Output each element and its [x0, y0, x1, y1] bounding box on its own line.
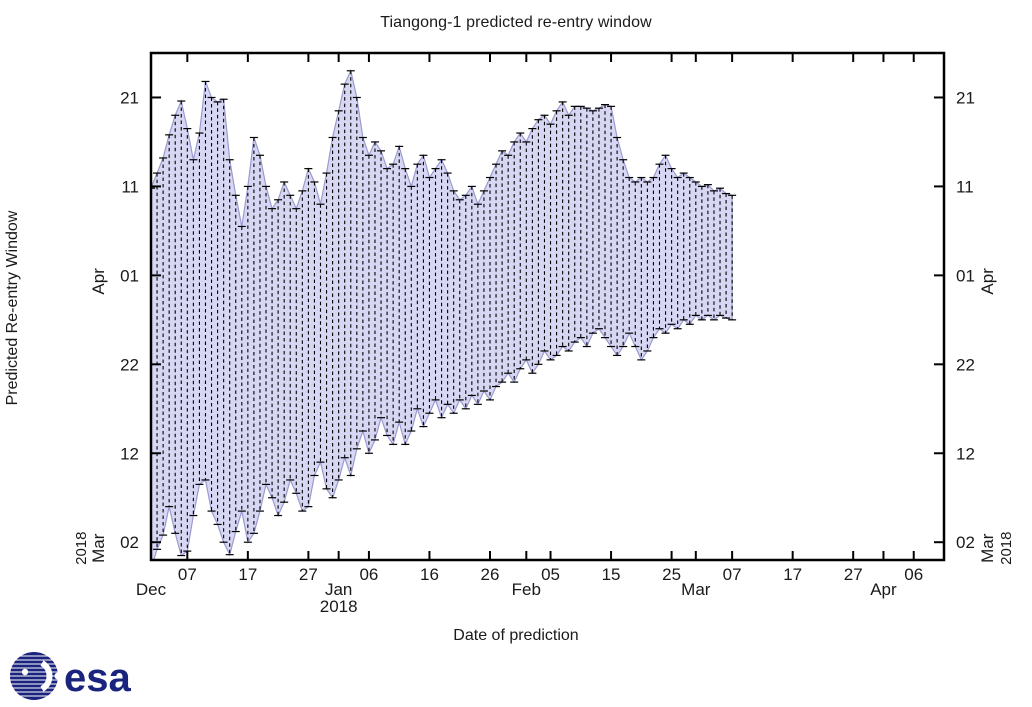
- y-tick-month-label: Mar: [978, 533, 997, 563]
- y-tick-label: 22: [120, 355, 139, 374]
- x-tick-label: 16: [420, 565, 439, 584]
- y-tick-label: 12: [956, 444, 975, 463]
- x-tick-label: 27: [844, 565, 863, 584]
- x-tick-label: 06: [359, 565, 378, 584]
- y-tick-label: 02: [120, 533, 139, 552]
- y-tick-month-label: Apr: [89, 268, 108, 295]
- y-axis-ticks-left: 02Mar2018122201Apr1121: [73, 88, 161, 564]
- x-tick-label: 26: [481, 565, 500, 584]
- y-axis-ticks-right: 02Mar2018122201Apr1121: [934, 88, 1015, 564]
- y-tick-year-label: 2018: [998, 532, 1015, 565]
- x-tick-label: Mar: [681, 580, 711, 599]
- plot-area: Dec071727Jan2018061626Feb051525Mar071727…: [0, 0, 1032, 620]
- x-tick-label: 07: [723, 565, 742, 584]
- y-tick-label: 12: [120, 444, 139, 463]
- y-tick-month-label: Apr: [978, 268, 997, 295]
- chart-page: Tiangong-1 predicted re-entry window Pre…: [0, 0, 1032, 707]
- esa-logo[interactable]: esa: [8, 650, 143, 702]
- x-tick-label: 05: [541, 565, 560, 584]
- x-tick-label: 25: [662, 565, 681, 584]
- x-tick-label: 06: [904, 565, 923, 584]
- y-tick-label: 02: [956, 533, 975, 552]
- y-tick-month-label: Mar: [89, 533, 108, 563]
- reentry-window-band: [151, 71, 732, 569]
- x-tick-label: 17: [783, 565, 802, 584]
- y-tick-label: 01: [956, 266, 975, 285]
- x-tick-label: Dec: [136, 580, 167, 599]
- y-tick-label: 01: [120, 266, 139, 285]
- x-tick-label: 07: [178, 565, 197, 584]
- x-tick-label: 15: [602, 565, 621, 584]
- y-tick-label: 11: [121, 177, 139, 196]
- x-axis-title: Date of prediction: [0, 627, 1032, 645]
- x-tick-label: 27: [299, 565, 318, 584]
- esa-globe-icon: [9, 652, 61, 700]
- x-tick-label: Feb: [512, 580, 541, 599]
- y-tick-label: 21: [120, 88, 139, 107]
- y-tick-label: 22: [956, 355, 975, 374]
- y-tick-label: 21: [956, 88, 975, 107]
- x-tick-sublabel: 2018: [320, 597, 358, 616]
- esa-logo-text: esa: [64, 656, 131, 700]
- x-tick-label: 17: [238, 565, 257, 584]
- y-tick-label: 11: [956, 177, 974, 196]
- x-tick-label: Apr: [870, 580, 897, 599]
- y-tick-year-label: 2018: [73, 532, 90, 565]
